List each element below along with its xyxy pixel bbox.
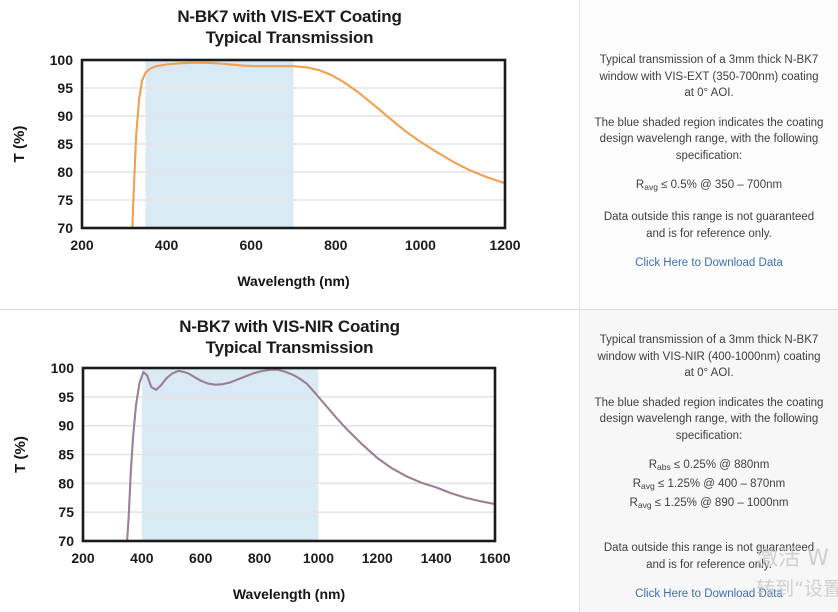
y-axis-tick-label: 70 xyxy=(58,533,74,549)
spec-subscript: avg xyxy=(638,500,652,510)
plot-svg-vis-ext: 70758085909510020040060080010001200T (%)… xyxy=(0,48,580,303)
spec-subscript: avg xyxy=(644,182,658,192)
y-axis-tick-label: 100 xyxy=(50,52,74,68)
x-axis-tick-label: 1200 xyxy=(489,237,520,253)
chart-title-vis-nir: N-BK7 with VIS-NIR Coating Typical Trans… xyxy=(0,310,579,358)
y-axis-tick-label: 95 xyxy=(57,80,73,96)
x-axis-label: Wavelength (nm) xyxy=(237,273,349,289)
x-axis-label: Wavelength (nm) xyxy=(233,586,345,602)
y-axis-tick-label: 85 xyxy=(58,447,74,463)
specification-line: Ravg ≤ 0.5% @ 350 – 700nm xyxy=(594,177,824,196)
specification-list: Rabs ≤ 0.25% @ 880nmRavg ≤ 1.25% @ 400 –… xyxy=(594,457,824,514)
y-axis-tick-label: 95 xyxy=(58,389,74,405)
y-axis-tick-label: 100 xyxy=(51,360,75,376)
shaded-region-note: The blue shaded region indicates the coa… xyxy=(594,395,824,445)
x-axis-tick-label: 800 xyxy=(248,550,272,566)
description-paragraph: Typical transmission of a 3mm thick N-BK… xyxy=(594,52,824,102)
plot-svg-vis-nir: 7075808590951002004006008001000120014001… xyxy=(0,358,580,608)
x-axis-tick-label: 600 xyxy=(240,237,264,253)
spec-symbol: R xyxy=(649,459,657,471)
spec-subscript: abs xyxy=(657,462,671,472)
disclaimer-paragraph: Data outside this range is not guarantee… xyxy=(594,540,824,573)
specification-line: Ravg ≤ 1.25% @ 890 – 1000nm xyxy=(594,495,824,514)
specification-line: Rabs ≤ 0.25% @ 880nm xyxy=(594,457,824,476)
x-axis-tick-label: 1000 xyxy=(405,237,436,253)
info-panel-vis-ext: Typical transmission of a 3mm thick N-BK… xyxy=(580,0,838,310)
y-axis-tick-label: 70 xyxy=(57,220,73,236)
spec-value: ≤ 0.5% @ 350 – 700nm xyxy=(658,179,782,191)
spec-value: ≤ 1.25% @ 890 – 1000nm xyxy=(652,497,789,509)
x-axis-tick-label: 1000 xyxy=(303,550,334,566)
disclaimer-paragraph: Data outside this range is not guarantee… xyxy=(594,209,824,242)
description-paragraph: Typical transmission of a 3mm thick N-BK… xyxy=(594,332,824,382)
chart-title-line1: N-BK7 with VIS-EXT Coating xyxy=(177,7,401,26)
plot-wrap-vis-ext: 70758085909510020040060080010001200T (%)… xyxy=(0,48,580,303)
x-axis-tick-label: 400 xyxy=(130,550,154,566)
x-axis-tick-label: 800 xyxy=(324,237,348,253)
chart-title-line1: N-BK7 with VIS-NIR Coating xyxy=(179,317,400,336)
y-axis-tick-label: 90 xyxy=(58,418,74,434)
download-data-link[interactable]: Click Here to Download Data xyxy=(635,586,783,603)
x-axis-tick-label: 400 xyxy=(155,237,179,253)
spec-value: ≤ 0.25% @ 880nm xyxy=(671,459,770,471)
spec-value: ≤ 1.25% @ 400 – 870nm xyxy=(655,478,786,490)
specification-list: Ravg ≤ 0.5% @ 350 – 700nm xyxy=(594,177,824,196)
spec-symbol: R xyxy=(636,179,644,191)
spec-symbol: R xyxy=(630,497,638,509)
plot-wrap-vis-nir: 7075808590951002004006008001000120014001… xyxy=(0,358,580,608)
info-panel-vis-nir-inner: Typical transmission of a 3mm thick N-BK… xyxy=(594,310,824,603)
x-axis-tick-label: 200 xyxy=(71,550,95,566)
x-axis-tick-label: 600 xyxy=(189,550,213,566)
y-axis-tick-label: 75 xyxy=(57,192,73,208)
info-panel-vis-nir: Typical transmission of a 3mm thick N-BK… xyxy=(580,310,838,612)
chart-panel-vis-ext: N-BK7 with VIS-EXT Coating Typical Trans… xyxy=(0,0,580,310)
y-axis-tick-label: 85 xyxy=(57,136,73,152)
y-axis-label: T (%) xyxy=(11,126,28,163)
spec-subscript: avg xyxy=(641,481,655,491)
spec-symbol: R xyxy=(633,478,641,490)
x-axis-tick-label: 1200 xyxy=(362,550,393,566)
x-axis-tick-label: 200 xyxy=(70,237,94,253)
page-grid: N-BK7 with VIS-EXT Coating Typical Trans… xyxy=(0,0,838,612)
chart-title-vis-ext: N-BK7 with VIS-EXT Coating Typical Trans… xyxy=(0,0,579,48)
y-axis-label: T (%) xyxy=(12,436,29,473)
chart-title-line2: Typical Transmission xyxy=(0,27,579,48)
y-axis-tick-label: 90 xyxy=(57,108,73,124)
download-data-link[interactable]: Click Here to Download Data xyxy=(635,255,783,272)
y-axis-tick-label: 75 xyxy=(58,504,74,520)
chart-panel-vis-nir: N-BK7 with VIS-NIR Coating Typical Trans… xyxy=(0,310,580,612)
y-axis-tick-label: 80 xyxy=(58,475,74,491)
specification-line: Ravg ≤ 1.25% @ 400 – 870nm xyxy=(594,476,824,495)
y-axis-tick-label: 80 xyxy=(57,164,73,180)
chart-title-line2: Typical Transmission xyxy=(0,337,579,358)
x-axis-tick-label: 1600 xyxy=(479,550,510,566)
shaded-region-note: The blue shaded region indicates the coa… xyxy=(594,115,824,165)
x-axis-tick-label: 1400 xyxy=(421,550,452,566)
info-panel-vis-ext-inner: Typical transmission of a 3mm thick N-BK… xyxy=(594,0,824,272)
